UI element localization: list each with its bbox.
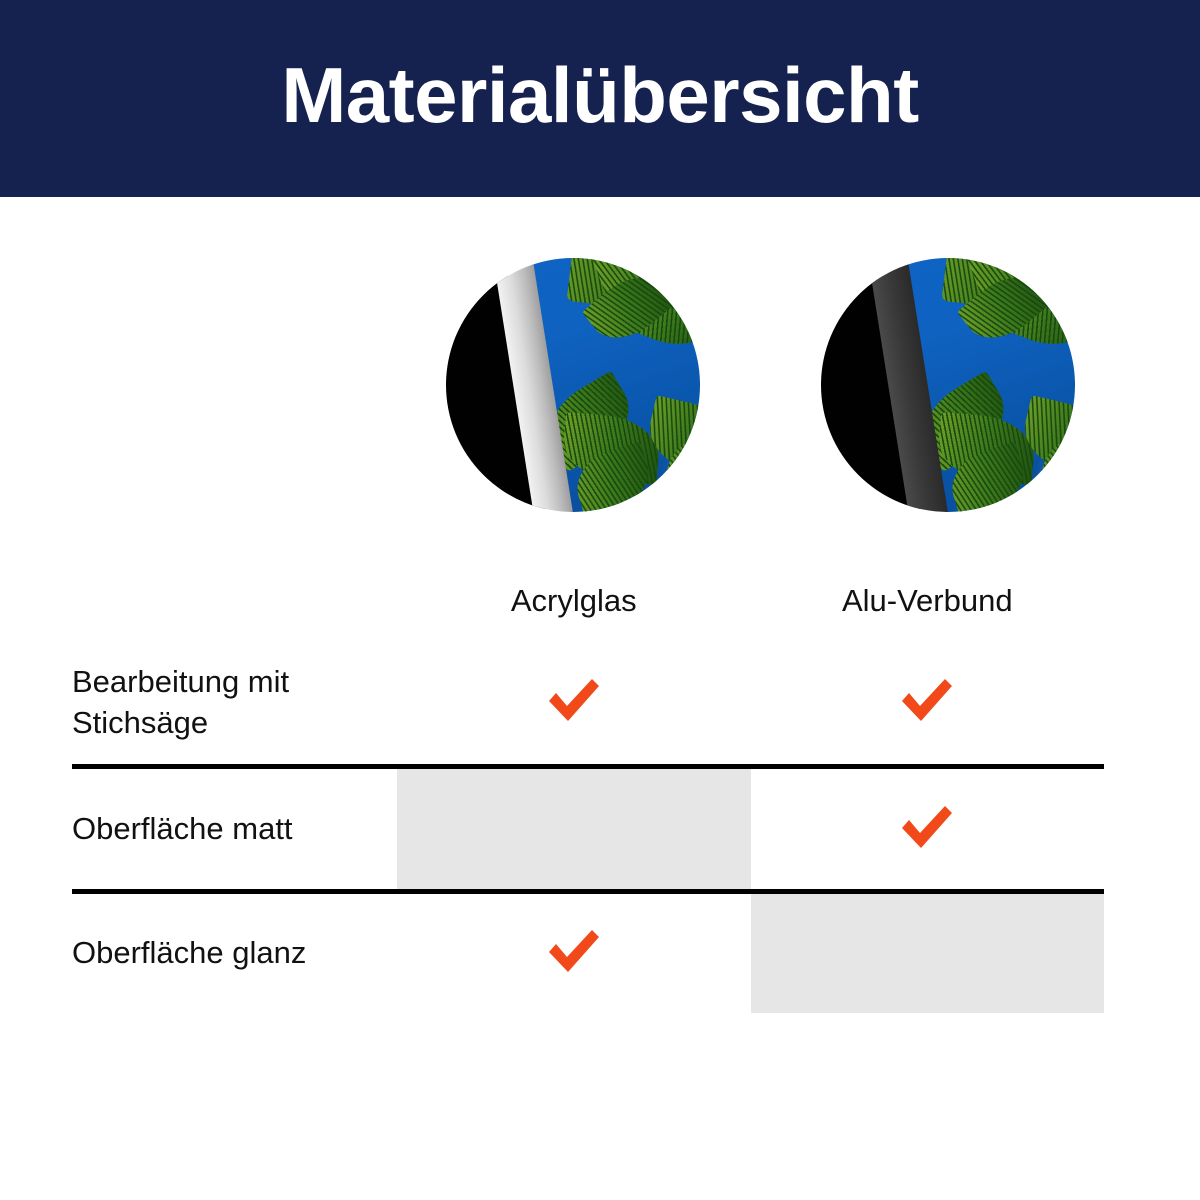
header-banner: Materialübersicht [0, 0, 1200, 197]
table-header-row: Acrylglas Alu-Verbund [72, 560, 1104, 641]
alu-verbund-panel-image [821, 258, 1075, 512]
cell-glanz-acrylglas [397, 892, 751, 1014]
alu-verbund-thumbnail[interactable] [821, 258, 1075, 512]
check-icon [546, 677, 602, 723]
material-comparison-table: Acrylglas Alu-Verbund Bearbeitung mit St… [72, 560, 1104, 1008]
cell-matt-acrylglas-unavailable [397, 767, 751, 892]
row-label-line-1: Bearbeitung mit [72, 664, 289, 699]
table-row: Oberfläche matt [72, 767, 1104, 892]
row-label-line-2: Stichsäge [72, 705, 208, 740]
row-label-line-1: Oberfläche matt [72, 811, 293, 846]
cell-bearbeitung-alu-verbund [751, 641, 1105, 767]
acrylglas-panel-image [446, 258, 700, 512]
cell-bearbeitung-acrylglas [397, 641, 751, 767]
check-icon [546, 928, 602, 974]
row-label-line-1: Oberfläche glanz [72, 935, 306, 970]
check-icon [899, 804, 955, 850]
row-label-bearbeitung-mit-stichsaege: Bearbeitung mit Stichsäge [72, 641, 397, 767]
cell-matt-alu-verbund [751, 767, 1105, 892]
check-icon [899, 677, 955, 723]
page-title: Materialübersicht [281, 56, 918, 134]
row-label-oberflaeche-matt: Oberfläche matt [72, 767, 397, 892]
thumbnail-row [0, 258, 1200, 514]
table-corner-cell [72, 560, 397, 641]
column-header-alu-verbund: Alu-Verbund [751, 560, 1105, 641]
acrylglas-thumbnail[interactable] [446, 258, 700, 512]
row-label-oberflaeche-glanz: Oberfläche glanz [72, 892, 397, 1014]
table-row: Bearbeitung mit Stichsäge [72, 641, 1104, 767]
cell-glanz-alu-verbund-unavailable [751, 892, 1105, 1014]
table-row: Oberfläche glanz [72, 892, 1104, 1014]
column-header-acrylglas: Acrylglas [397, 560, 751, 641]
